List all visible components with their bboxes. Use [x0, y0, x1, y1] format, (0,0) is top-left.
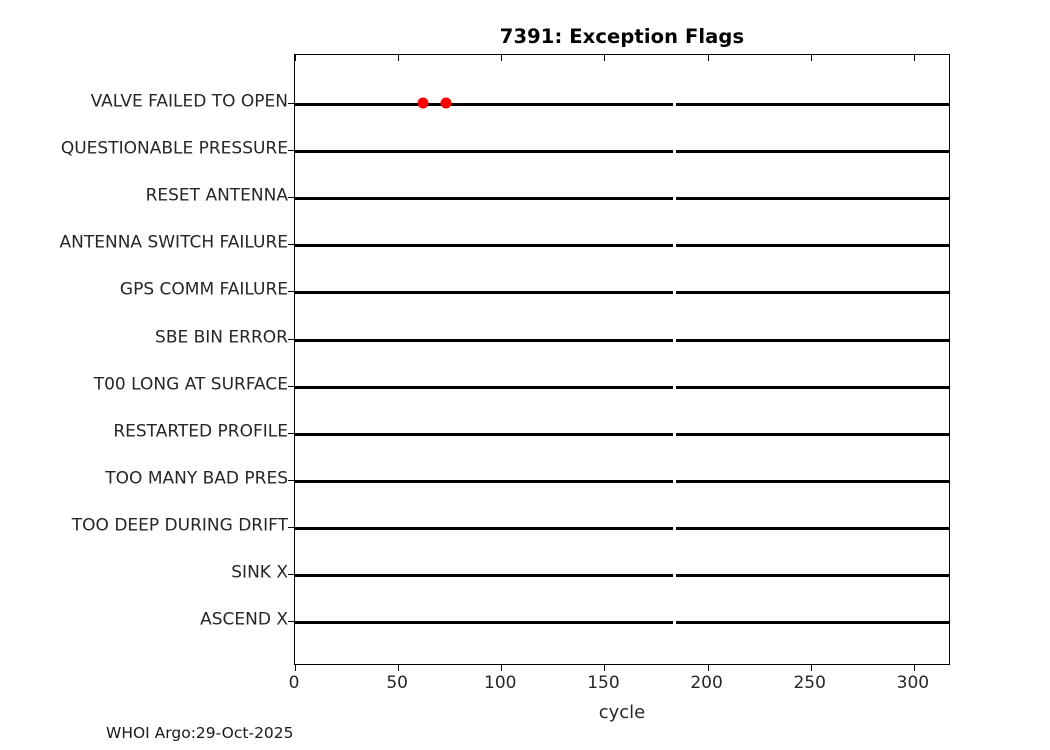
x-axis-tick-top [708, 55, 709, 61]
x-axis-tick [708, 664, 709, 671]
x-axis-tick [914, 664, 915, 671]
row-line-gap [673, 480, 676, 483]
footer-credit: WHOI Argo:29-Oct-2025 [106, 724, 294, 742]
x-axis-title: cycle [294, 702, 950, 723]
x-axis-tick-top [398, 55, 399, 61]
category-row-line [295, 574, 949, 577]
category-row-line [295, 527, 949, 530]
x-axis-tick-label: 150 [587, 673, 619, 693]
x-axis-tick [398, 664, 399, 671]
category-row-line [295, 339, 949, 342]
category-row-line [295, 150, 949, 153]
y-axis-tick-label: VALVE FAILED TO OPEN [91, 94, 288, 111]
x-axis-tick-label: 250 [793, 673, 825, 693]
category-row-line [295, 197, 949, 200]
y-axis-tick [288, 244, 295, 245]
category-row-line [295, 103, 949, 106]
row-line-gap [673, 527, 676, 530]
y-axis-tick [288, 386, 295, 387]
row-line-gap [673, 244, 676, 247]
y-axis-tick-label: T00 LONG AT SURFACE [94, 376, 288, 393]
x-axis-tick-label: 50 [386, 673, 408, 693]
category-row-line [295, 480, 949, 483]
x-axis-tick-label: 100 [484, 673, 516, 693]
row-line-gap [673, 574, 676, 577]
category-row-line [295, 433, 949, 436]
row-line-gap [673, 339, 676, 342]
y-axis-tick-label: RESTARTED PROFILE [113, 423, 288, 440]
y-axis-tick [288, 621, 295, 622]
row-line-gap [673, 197, 676, 200]
x-axis-tick-top [604, 55, 605, 61]
y-axis-tick [288, 150, 295, 151]
x-axis-tick [604, 664, 605, 671]
x-axis-tick-top [811, 55, 812, 61]
x-axis-tick-top [501, 55, 502, 61]
y-axis-tick-label: RESET ANTENNA [146, 188, 288, 205]
x-axis-tick-top [295, 55, 296, 61]
page-title: 7391: Exception Flags [294, 25, 950, 48]
category-row-line [295, 244, 949, 247]
y-axis-tick [288, 197, 295, 198]
x-axis-tick [295, 664, 296, 671]
category-row-line [295, 621, 949, 624]
x-axis-tick-label: 200 [690, 673, 722, 693]
y-axis-tick [288, 527, 295, 528]
y-axis-tick-label: TOO MANY BAD PRES [105, 470, 288, 487]
y-axis-tick [288, 480, 295, 481]
data-point [417, 98, 428, 109]
row-line-gap [673, 386, 676, 389]
plot-area [294, 54, 950, 665]
y-axis-tick-label: TOO DEEP DURING DRIFT [72, 517, 288, 534]
y-axis-tick [288, 574, 295, 575]
row-line-gap [673, 103, 676, 106]
row-line-gap [673, 150, 676, 153]
x-axis-tick-top [914, 55, 915, 61]
row-line-gap [673, 433, 676, 436]
y-axis-tick [288, 103, 295, 104]
y-axis-tick [288, 291, 295, 292]
y-axis-tick-label: SBE BIN ERROR [155, 329, 288, 346]
data-point [440, 98, 451, 109]
row-line-gap [673, 621, 676, 624]
y-axis-tick [288, 339, 295, 340]
x-axis-tick-label: 300 [897, 673, 929, 693]
x-axis-tick [501, 664, 502, 671]
y-axis-tick-label: SINK X [231, 565, 288, 582]
x-axis-tick-label: 0 [289, 673, 300, 693]
y-axis-tick-label: QUESTIONABLE PRESSURE [61, 141, 288, 158]
y-axis-tick-label: ASCEND X [200, 612, 288, 629]
y-axis-tick-label: ANTENNA SWITCH FAILURE [60, 235, 288, 252]
y-axis-tick-label: GPS COMM FAILURE [120, 282, 288, 299]
y-axis-tick [288, 433, 295, 434]
category-row-line [295, 386, 949, 389]
row-line-gap [673, 291, 676, 294]
x-axis-tick [811, 664, 812, 671]
category-row-line [295, 291, 949, 294]
